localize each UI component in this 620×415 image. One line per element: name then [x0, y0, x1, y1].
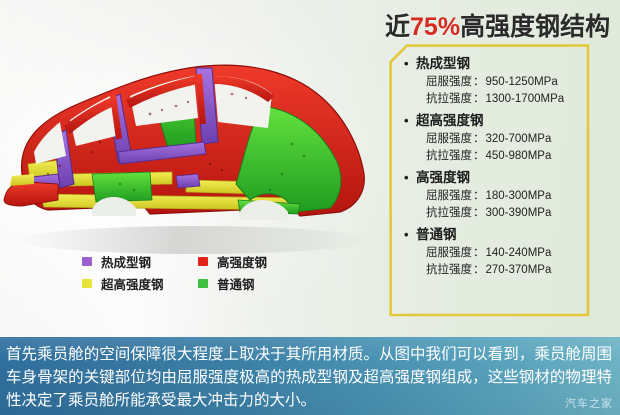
spec-group-name: 热成型钢 — [416, 56, 470, 71]
spec-row-value: 320-700MPa — [486, 133, 552, 145]
spec-row-sep: ： — [472, 207, 486, 219]
bullet-icon: • — [404, 110, 409, 131]
spec-row-sep: ： — [472, 76, 486, 88]
spec-row-value: 270-370MPa — [486, 264, 552, 276]
spec-row: 屈服强度：140-240MPa — [400, 245, 590, 262]
title-suffix: 高强度钢结构 — [460, 13, 610, 41]
spec-row-label: 抗拉强度 — [426, 264, 472, 276]
spec-row-value: 140-240MPa — [486, 247, 552, 259]
legend-swatch-icon — [82, 257, 92, 266]
caption-text: 首先乘员舱的空间保障很大程度上取决于其所用材质。从图中我们可以看到，乘员舱周围车… — [6, 343, 612, 412]
car-body-photo: 近75%高强度钢结构 • 热成型钢 屈服强度：950-1250MPa 抗拉强度： — [0, 0, 620, 337]
spec-row-sep: ： — [472, 247, 486, 259]
spec-row-label: 屈服强度 — [426, 190, 472, 202]
spec-row-label: 抗拉强度 — [426, 93, 472, 105]
spec-row-value: 180-300MPa — [486, 190, 552, 202]
bullet-icon: • — [404, 53, 409, 74]
title-prefix: 近 — [385, 13, 410, 41]
spec-group: • 普通钢 屈服强度：140-240MPa 抗拉强度：270-370MPa — [389, 224, 590, 279]
spec-row: 抗拉强度：450-980MPa — [400, 148, 590, 165]
car-body-frame-diagram — [0, 24, 400, 274]
spec-group-heading: • 超高强度钢 — [400, 110, 590, 131]
legend-label: 普通钢 — [217, 274, 255, 293]
spec-row-sep: ： — [472, 133, 486, 145]
spec-group-name: 高强度钢 — [416, 170, 470, 185]
spec-group-heading: • 热成型钢 — [400, 53, 590, 74]
spec-row-sep: ： — [472, 264, 486, 276]
spec-list: • 热成型钢 屈服强度：950-1250MPa 抗拉强度：1300-1700MP… — [389, 44, 590, 317]
legend-item: 超高强度钢 — [82, 272, 198, 294]
title-percent: 75% — [410, 13, 460, 41]
spec-row: 抗拉强度：270-370MPa — [400, 262, 590, 279]
spec-group: • 高强度钢 屈服强度：180-300MPa 抗拉强度：300-390MPa — [389, 167, 590, 222]
spec-group-heading: • 高强度钢 — [400, 167, 590, 188]
spec-row-value: 1300-1700MPa — [486, 93, 565, 105]
legend-item: 高强度钢 — [198, 250, 322, 272]
spec-group: • 超高强度钢 屈服强度：320-700MPa 抗拉强度：450-980MPa — [389, 110, 590, 165]
page-title: 近75%高强度钢结构 — [385, 7, 610, 43]
legend-label: 高强度钢 — [217, 252, 267, 271]
spec-row-label: 抗拉强度 — [426, 150, 472, 162]
spec-row: 屈服强度：180-300MPa — [400, 188, 590, 205]
spec-row-label: 屈服强度 — [426, 133, 472, 145]
legend-item: 热成型钢 — [82, 250, 198, 272]
watermark: 汽车之家 — [565, 395, 613, 411]
legend-swatch-icon — [198, 257, 208, 266]
spec-row: 抗拉强度：1300-1700MPa — [400, 91, 590, 108]
spec-row-label: 抗拉强度 — [426, 207, 472, 219]
spec-row-label: 屈服强度 — [426, 247, 472, 259]
bullet-icon: • — [404, 224, 409, 245]
spec-row-value: 450-980MPa — [486, 150, 552, 162]
slide-root: 近75%高强度钢结构 • 热成型钢 屈服强度：950-1250MPa 抗拉强度： — [0, 0, 620, 415]
legend-item: 普通钢 — [198, 272, 322, 294]
spec-row-label: 屈服强度 — [426, 76, 472, 88]
spec-group: • 热成型钢 屈服强度：950-1250MPa 抗拉强度：1300-1700MP… — [389, 53, 590, 108]
spec-box: • 热成型钢 屈服强度：950-1250MPa 抗拉强度：1300-1700MP… — [389, 44, 590, 317]
spec-row: 抗拉强度：300-390MPa — [400, 205, 590, 222]
spec-row-sep: ： — [472, 150, 486, 162]
spec-row-value: 300-390MPa — [486, 207, 552, 219]
spec-row-sep: ： — [472, 93, 486, 105]
spec-group-name: 普通钢 — [416, 227, 457, 242]
spec-group-heading: • 普通钢 — [400, 224, 590, 245]
bullet-icon: • — [404, 167, 409, 188]
legend-swatch-icon — [82, 279, 92, 288]
spec-row: 屈服强度：320-700MPa — [400, 131, 590, 148]
spec-group-name: 超高强度钢 — [416, 113, 484, 128]
spec-row-sep: ： — [472, 190, 486, 202]
legend: 热成型钢 高强度钢 超高强度钢 普通钢 — [82, 250, 322, 294]
legend-swatch-icon — [198, 279, 208, 288]
spec-row: 屈服强度：950-1250MPa — [400, 74, 590, 91]
legend-label: 超高强度钢 — [101, 274, 164, 293]
legend-label: 热成型钢 — [101, 252, 151, 271]
spec-row-value: 950-1250MPa — [486, 76, 558, 88]
caption-band: 首先乘员舱的空间保障很大程度上取决于其所用材质。从图中我们可以看到，乘员舱周围车… — [0, 337, 620, 415]
